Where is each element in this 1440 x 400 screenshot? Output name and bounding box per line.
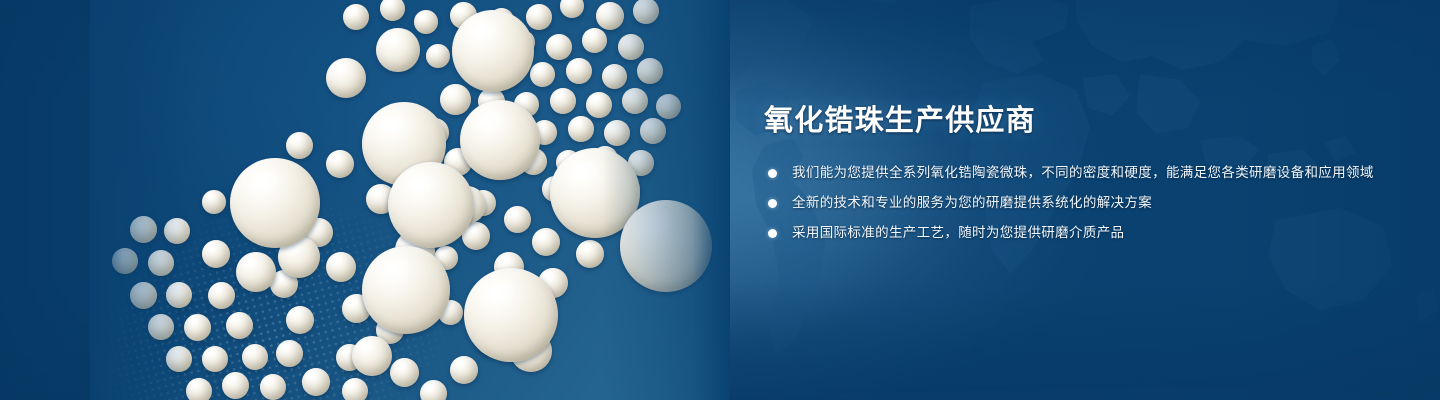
bead	[640, 118, 666, 144]
bead	[376, 28, 420, 72]
bead	[426, 44, 450, 68]
bead	[637, 58, 663, 84]
bead	[276, 340, 303, 367]
bead	[343, 4, 369, 30]
bead	[532, 228, 560, 256]
feature-list: 我们能为您提供全系列氧化锆陶瓷微珠，不同的密度和硬度，能满足您各类研磨设备和应用…	[764, 161, 1384, 245]
bead	[460, 100, 540, 180]
list-item-label: 全新的技术和专业的服务为您的研磨提供系统化的解决方案	[792, 195, 1152, 210]
bead	[236, 252, 276, 292]
bead	[326, 58, 366, 98]
bead	[546, 34, 572, 60]
bead	[362, 246, 450, 334]
bead	[286, 306, 314, 334]
bead	[326, 150, 354, 178]
bead	[112, 248, 138, 274]
bead	[576, 240, 604, 268]
bead	[202, 190, 226, 214]
bead	[352, 336, 392, 376]
bead	[242, 344, 268, 370]
bead	[130, 216, 157, 243]
bead	[166, 346, 192, 372]
bead	[302, 368, 330, 396]
bead	[656, 94, 681, 119]
list-item: 采用国际标准的生产工艺，随时为您提供研磨介质产品	[764, 221, 1384, 244]
bead	[622, 88, 648, 114]
bead	[566, 58, 592, 84]
bead	[604, 120, 630, 146]
bullet-circle-icon	[768, 169, 777, 178]
bead	[226, 312, 253, 339]
bead	[166, 282, 192, 308]
list-item: 我们能为您提供全系列氧化锆陶瓷微珠，不同的密度和硬度，能满足您各类研磨设备和应用…	[764, 161, 1384, 184]
bullet-circle-icon	[768, 229, 777, 238]
bead	[130, 282, 157, 309]
bead	[596, 2, 624, 30]
bead	[260, 374, 286, 400]
bead	[504, 206, 531, 233]
bead	[286, 132, 313, 159]
bead	[560, 0, 584, 18]
bead	[618, 34, 644, 60]
bullet-circle-icon	[768, 199, 777, 208]
bead	[464, 268, 558, 362]
bead	[602, 64, 627, 89]
bead	[526, 4, 552, 30]
bead	[388, 162, 474, 248]
bead	[184, 314, 211, 341]
bead	[582, 28, 607, 53]
bead	[148, 250, 174, 276]
bead	[390, 358, 419, 387]
bead	[620, 200, 712, 292]
bead-cluster	[90, 0, 730, 400]
list-item: 全新的技术和专业的服务为您的研磨提供系统化的解决方案	[764, 191, 1384, 214]
page-title: 氧化锆珠生产供应商	[764, 104, 1384, 139]
bead	[202, 346, 228, 372]
bead	[586, 92, 612, 118]
bead	[530, 62, 555, 87]
hero-banner: 氧化锆珠生产供应商 我们能为您提供全系列氧化锆陶瓷微珠，不同的密度和硬度，能满足…	[0, 0, 1440, 400]
bead	[230, 158, 320, 248]
bead	[420, 380, 447, 400]
bead	[222, 372, 249, 399]
bead	[414, 10, 438, 34]
bead	[380, 0, 405, 21]
list-item-label: 采用国际标准的生产工艺，随时为您提供研磨介质产品	[792, 225, 1124, 240]
bead	[568, 116, 594, 142]
bead	[633, 0, 659, 24]
bead	[164, 218, 190, 244]
bead	[326, 252, 356, 282]
bead	[452, 10, 534, 92]
bead	[342, 378, 368, 400]
bead	[202, 240, 230, 268]
bead	[208, 282, 235, 309]
product-photo-zirconia-beads	[90, 0, 730, 400]
banner-copy: 氧化锆珠生产供应商 我们能为您提供全系列氧化锆陶瓷微珠，不同的密度和硬度，能满足…	[764, 104, 1384, 251]
bead	[186, 378, 212, 400]
bead	[550, 88, 576, 114]
list-item-label: 我们能为您提供全系列氧化锆陶瓷微珠，不同的密度和硬度，能满足您各类研磨设备和应用…	[792, 165, 1374, 180]
bead	[148, 314, 174, 340]
bead	[450, 356, 478, 384]
bead	[440, 84, 471, 115]
